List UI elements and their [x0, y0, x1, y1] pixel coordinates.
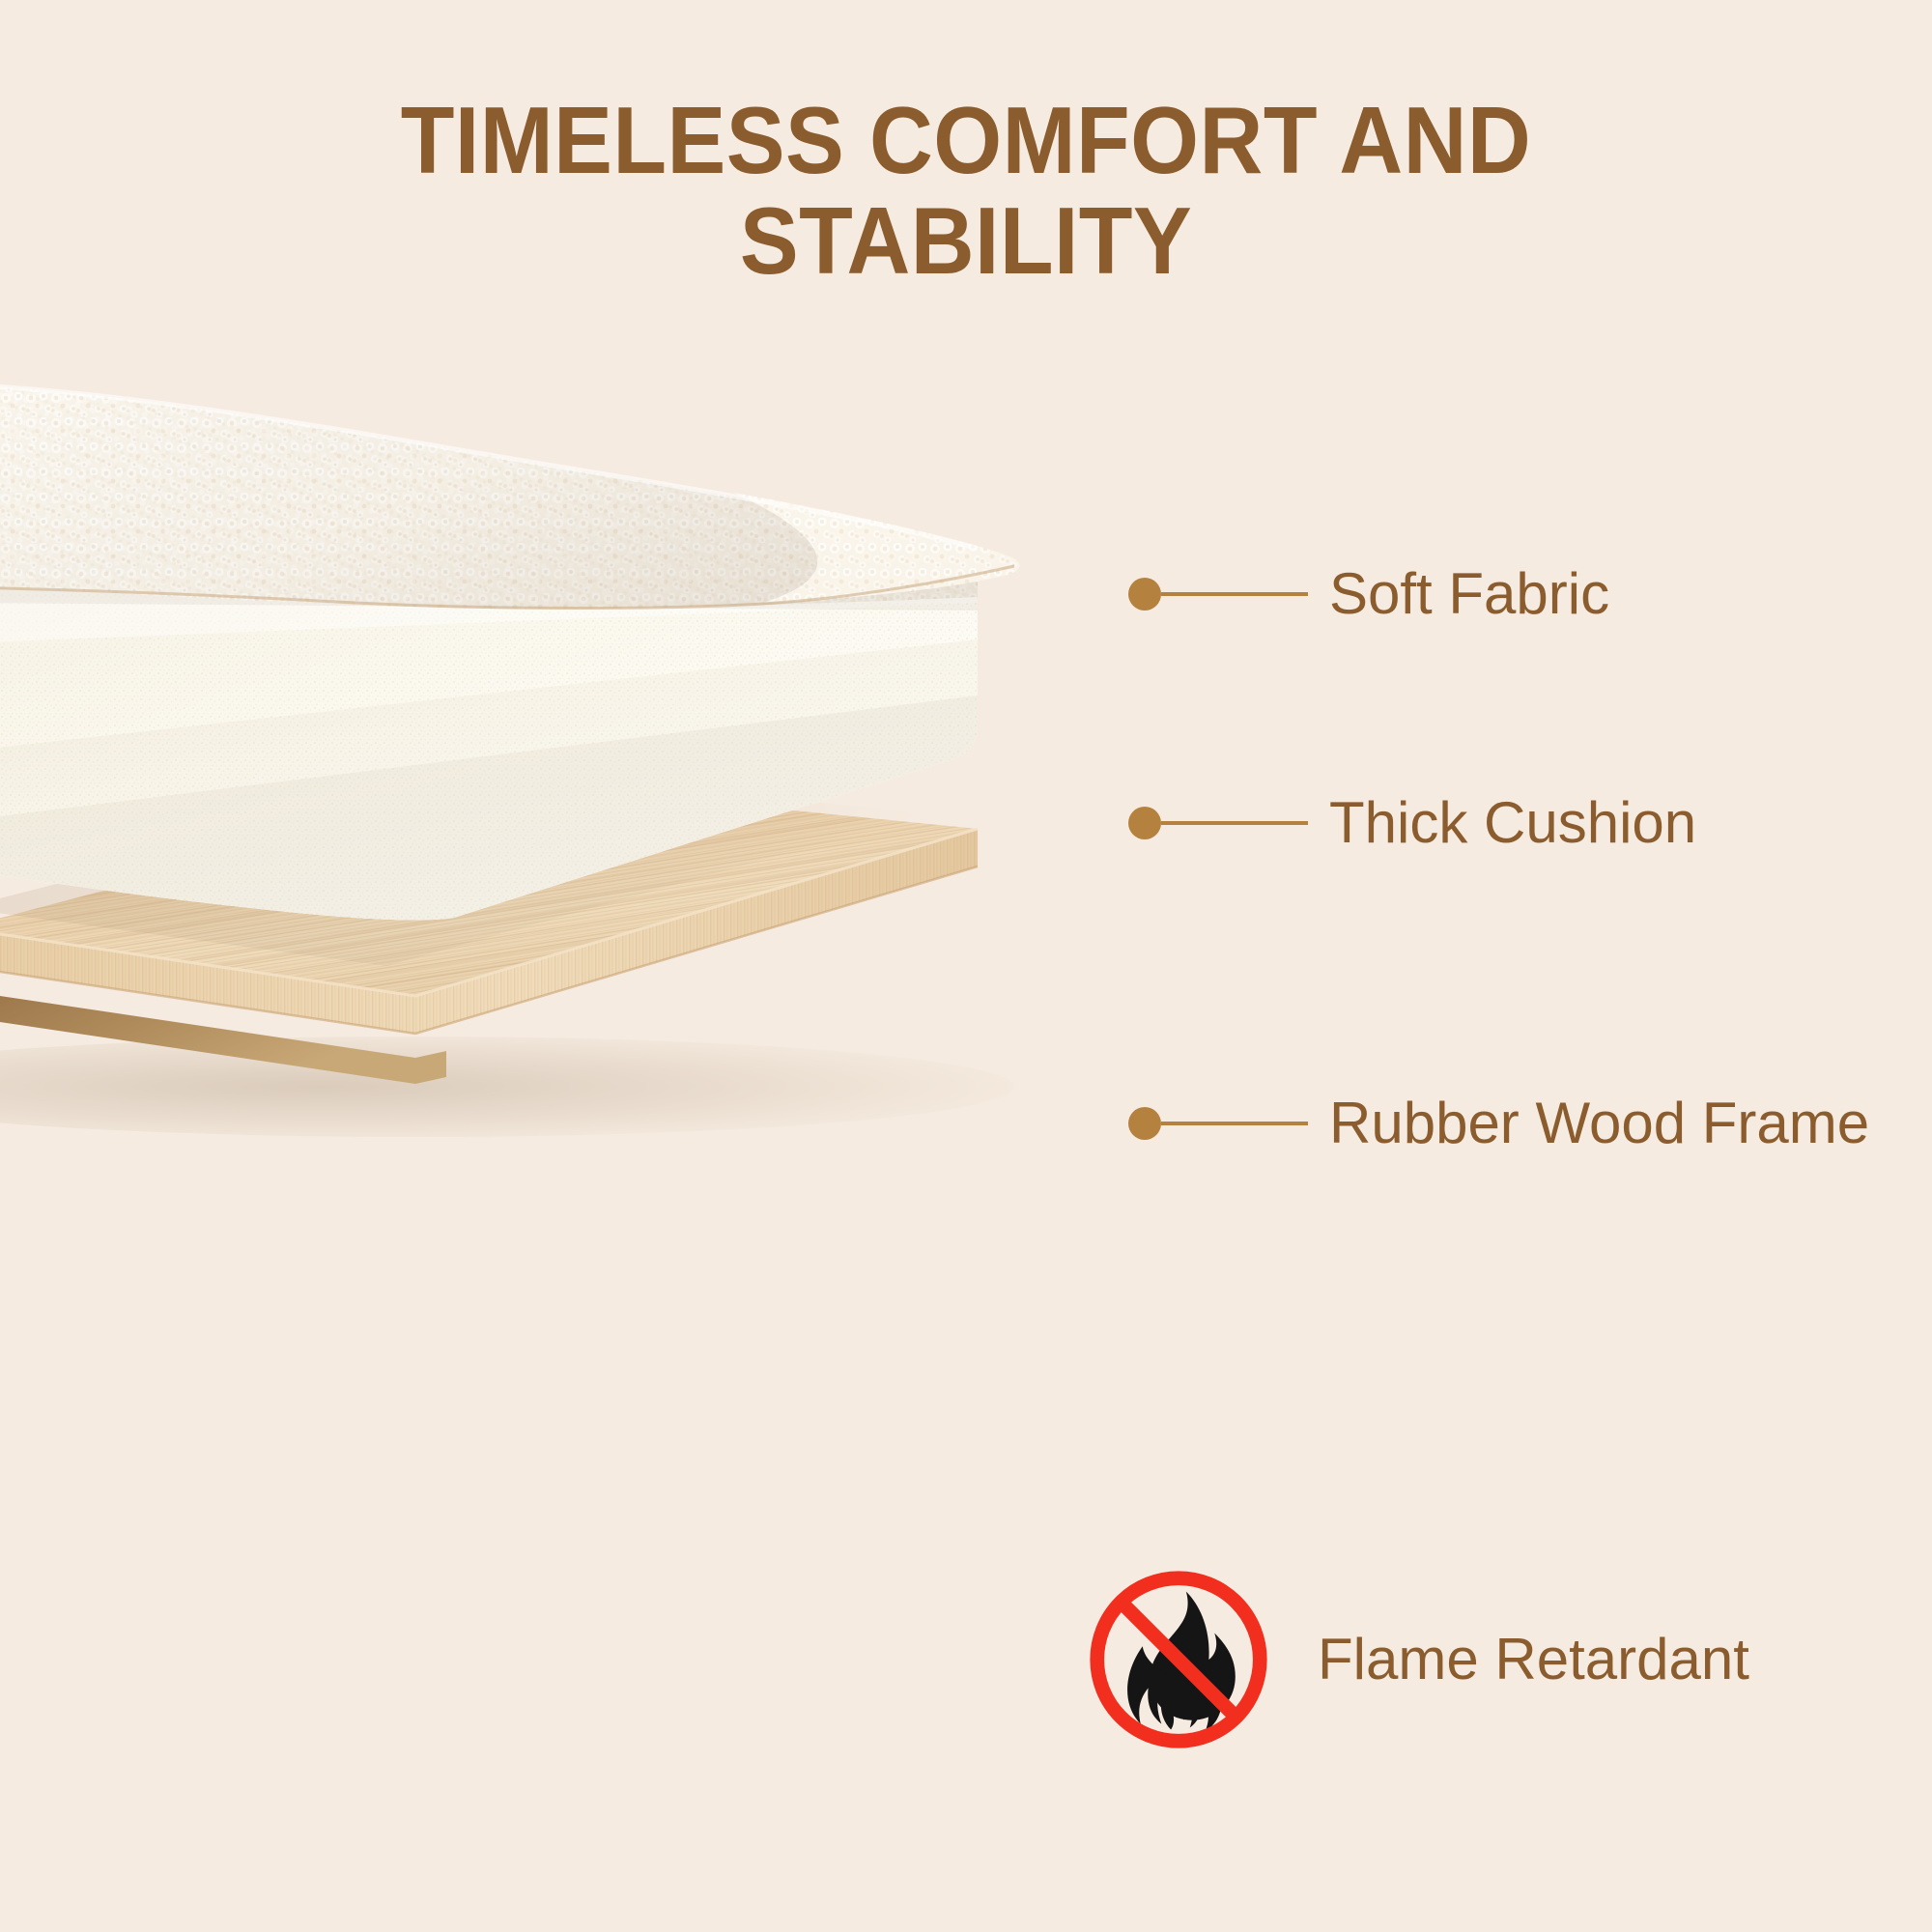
page-title-line-1: TIMELESS COMFORT AND [68, 93, 1864, 189]
callout-label-rubber-wood-frame: Rubber Wood Frame [1329, 1094, 1869, 1152]
product-illustration [0, 367, 1217, 1391]
infographic-canvas: TIMELESS COMFORT AND STABILITY [0, 0, 1932, 1932]
callout-leader-line [1161, 821, 1308, 825]
callout-label-thick-cushion: Thick Cushion [1329, 794, 1696, 852]
layer-soft-fabric [0, 384, 1020, 609]
wood-ground-shadow [0, 1037, 1014, 1137]
callout-leader-line [1161, 1122, 1308, 1125]
product-layer-stack [0, 367, 1217, 1391]
callout-leader-line [1161, 592, 1308, 596]
page-title-line-2: STABILITY [68, 193, 1864, 290]
callout-dot-icon [1128, 807, 1161, 839]
callout-dot-icon [1128, 1107, 1161, 1140]
callout-label-soft-fabric: Soft Fabric [1329, 565, 1609, 623]
page-title: TIMELESS COMFORT AND STABILITY [0, 93, 1932, 290]
callout-dot-icon [1128, 578, 1161, 611]
flame-retardant-label: Flame Retardant [1318, 1631, 1749, 1689]
flame-retardant-badge: Flame Retardant [1084, 1565, 1749, 1754]
no-flame-icon [1084, 1565, 1273, 1754]
